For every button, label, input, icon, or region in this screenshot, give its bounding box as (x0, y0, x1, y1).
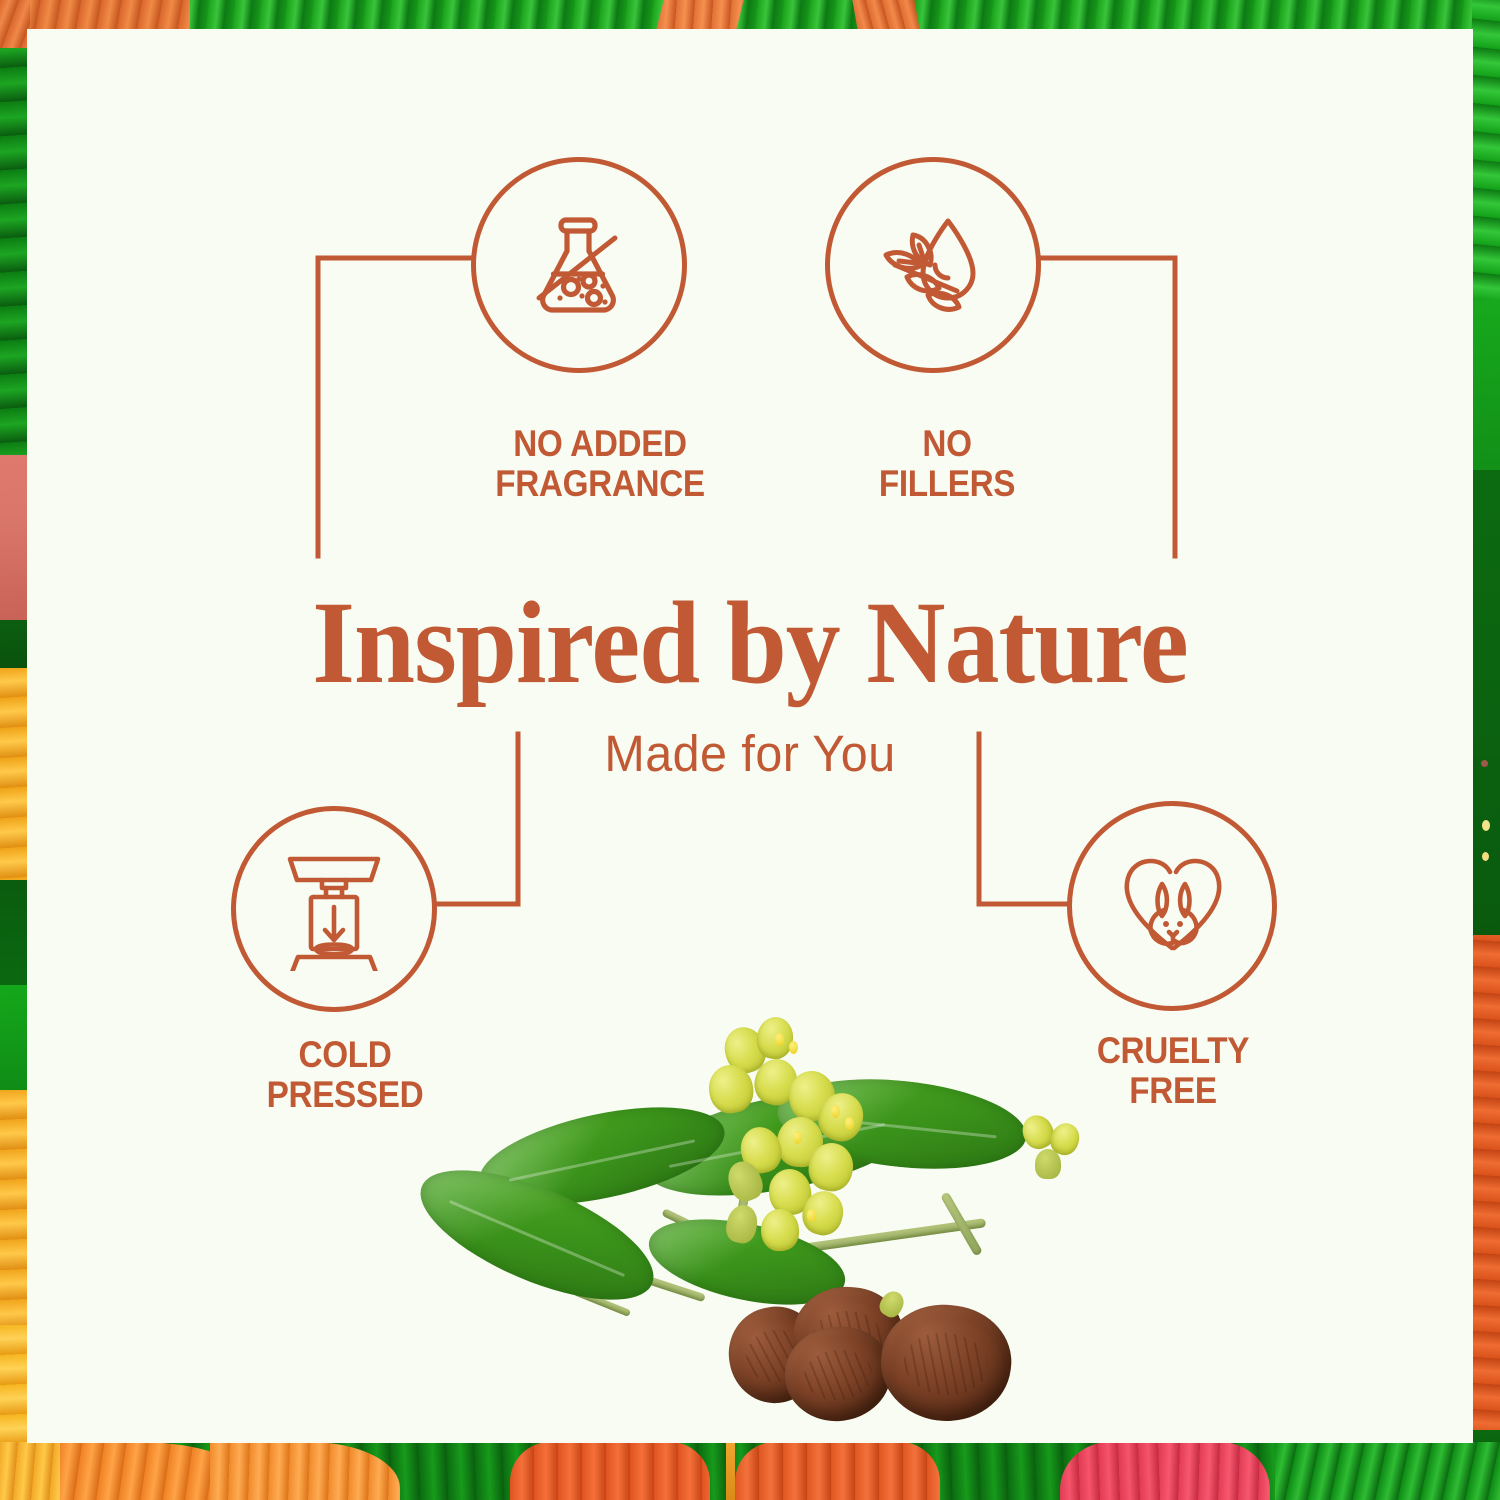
border-right-bud-1 (1481, 760, 1488, 767)
border-bottom-petal-4 (510, 1442, 710, 1500)
border-right-petal-1 (1472, 935, 1500, 1435)
border-bottom-foliage (0, 1442, 1500, 1500)
jojoba-plant-photo (357, 1009, 1077, 1429)
feature-badge-cruelty-free[interactable] (1067, 801, 1277, 1011)
feature-label-no-added-fragrance: NO ADDED FRAGRANCE (483, 424, 717, 504)
rabbit-heart-icon (1106, 844, 1238, 968)
border-bottom-flower-stem (726, 1442, 735, 1500)
border-right-leaf-3 (1472, 470, 1500, 940)
press-machine-icon (278, 847, 390, 971)
border-right-bud-2 (1482, 820, 1490, 831)
border-bottom-petal-5 (735, 1442, 940, 1500)
droplet-leaf-icon (869, 203, 997, 327)
page-subtitle: Made for You (63, 724, 1437, 783)
feature-badge-no-fillers[interactable] (825, 157, 1041, 373)
border-top-petal-accent (852, 0, 919, 30)
page-title: Inspired by Nature (78, 584, 1423, 702)
border-left-leaf-1 (0, 620, 30, 675)
border-bottom-petal-7 (1160, 1442, 1270, 1500)
border-bottom-petal-6 (1060, 1442, 1170, 1500)
border-left-petal-1 (0, 0, 30, 48)
content-panel: NO ADDED FRAGRANCE (27, 29, 1473, 1443)
border-left-petal-4 (0, 1090, 30, 1330)
feature-badge-cold-pressed[interactable] (231, 806, 437, 1012)
feature-badge-no-added-fragrance[interactable] (471, 157, 687, 373)
feature-label-cruelty-free: CRUELTY FREE (1083, 1031, 1263, 1111)
border-left-leaf-3 (0, 985, 30, 1095)
border-bottom-petal-3 (210, 1442, 400, 1500)
border-right-leaf-2 (1472, 300, 1500, 475)
border-right-bud-3 (1482, 852, 1489, 861)
border-left-petal-2 (0, 455, 30, 620)
border-left-leaf-2 (0, 880, 30, 995)
border-right-foliage (1472, 0, 1500, 1500)
border-top-foliage (0, 0, 1500, 30)
border-right-leaf-1 (1472, 0, 1500, 300)
border-left-foliage (0, 0, 30, 1500)
product-infographic-frame: NO ADDED FRAGRANCE (0, 0, 1500, 1500)
border-left-petal-3 (0, 668, 30, 883)
feature-label-no-fillers: NO FILLERS (866, 424, 1028, 504)
border-bottom-leaf-1 (1275, 1442, 1500, 1500)
flask-no-fragrance-icon (517, 203, 641, 327)
